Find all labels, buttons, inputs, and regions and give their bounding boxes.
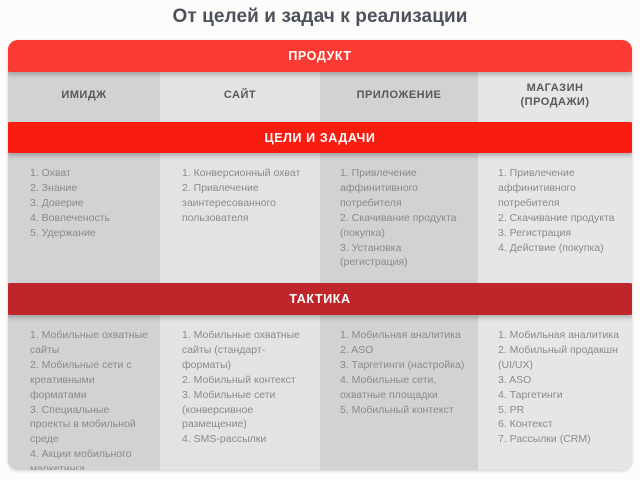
list-item: 4. Таргетинги xyxy=(498,388,622,403)
list-item: 4. Действие (покупка) xyxy=(498,241,622,256)
strategy-board: ПРОДУКТ ИМИДЖ САЙТ ПРИЛОЖЕНИЕ МАГАЗИН (П… xyxy=(8,40,632,470)
list-item: 4. Акции мобильного маркетинга xyxy=(30,447,150,470)
section-bar-product: ПРОДУКТ xyxy=(8,40,632,72)
list-item: 3. Регистрация xyxy=(498,226,622,241)
list-item: 2. Скачивание продукта xyxy=(498,211,622,226)
list-item: 3. Таргетинги (настройка) xyxy=(340,358,468,373)
list-item: 3. Доверие xyxy=(30,196,150,211)
section-bar-tactics: ТАКТИКА xyxy=(8,283,632,315)
section-bar-product-label: ПРОДУКТ xyxy=(288,49,351,63)
section-bar-goals: ЦЕЛИ И ЗАДАЧИ xyxy=(8,122,632,153)
column-header-prilozhenie: ПРИЛОЖЕНИЕ xyxy=(320,72,478,120)
column-header-sait: САЙТ xyxy=(160,72,320,120)
list-item: 3. Специальные проекты в мобильной среде xyxy=(30,403,150,448)
tactics-row: 1. Мобильные охватные сайты2. Мобильные … xyxy=(8,318,632,470)
page-title: От целей и задач к реализации xyxy=(0,6,640,28)
goals-row: 1. Охват2. Знание3. Доверие4. Вовлеченос… xyxy=(8,156,632,281)
list-item: 2. Знание xyxy=(30,181,150,196)
list-item: 1. Привлечение аффинитивного потребителя xyxy=(498,166,622,211)
list-item: 5. Удержание xyxy=(30,226,150,241)
goals-cell-magazin: 1. Привлечение аффинитивного потребителя… xyxy=(478,156,632,281)
list-item: 5. PR xyxy=(498,403,622,418)
list-item: 1. Конверсионный охват xyxy=(182,166,310,181)
list-item: 4. Вовлеченость xyxy=(30,211,150,226)
list-item: 1. Мобильная аналитика xyxy=(340,328,468,343)
list-item: 1. Мобильные охватные сайты (стандарт-фо… xyxy=(182,328,310,373)
list-item: 3. Мобильные сети (конверсивное размещен… xyxy=(182,388,310,433)
list-item: 2. Привлечение заинтересованного пользов… xyxy=(182,181,310,226)
list-item: 1. Охват xyxy=(30,166,150,181)
tactics-cell-magazin: 1. Мобильная аналитика2. Мобильный прода… xyxy=(478,318,632,470)
tactics-cell-prilozhenie: 1. Мобильная аналитика2. ASO3. Таргетинг… xyxy=(320,318,478,470)
list-item: 6. Контекст xyxy=(498,417,622,432)
column-header-magazin: МАГАЗИН (ПРОДАЖИ) xyxy=(478,72,632,120)
list-item: 3. Установка (регистрация) xyxy=(340,241,468,271)
list-item: 2. Мобильный контекст xyxy=(182,373,310,388)
list-item: 1. Привлечение аффинитивного потребителя xyxy=(340,166,468,211)
tactics-cell-sait: 1. Мобильные охватные сайты (стандарт-фо… xyxy=(160,318,320,470)
tactics-cell-imidzh: 1. Мобильные охватные сайты2. Мобильные … xyxy=(8,318,160,470)
list-item: 3. ASO xyxy=(498,373,622,388)
list-item: 2. ASO xyxy=(340,343,468,358)
column-header-row: ИМИДЖ САЙТ ПРИЛОЖЕНИЕ МАГАЗИН (ПРОДАЖИ) xyxy=(8,72,632,120)
list-item: 2. Мобильные сети с креативными форматам… xyxy=(30,358,150,403)
list-item: 2. Скачивание продукта (покупка) xyxy=(340,211,468,241)
list-item: 1. Мобильные охватные сайты xyxy=(30,328,150,358)
list-item: 1. Мобильная аналитика xyxy=(498,328,622,343)
list-item: 5. Мобильный контекст xyxy=(340,403,468,418)
list-item: 7. Рассылки (CRM) xyxy=(498,432,622,447)
goals-cell-imidzh: 1. Охват2. Знание3. Доверие4. Вовлеченос… xyxy=(8,156,160,281)
list-item: 2. Мобильный продакшн (UI/UX) xyxy=(498,343,622,373)
list-item: 4. SMS-рассылки xyxy=(182,432,310,447)
section-bar-tactics-label: ТАКТИКА xyxy=(289,292,350,306)
column-header-imidzh: ИМИДЖ xyxy=(8,72,160,120)
list-item: 4. Мобильные сети, охватные площадки xyxy=(340,373,468,403)
goals-cell-prilozhenie: 1. Привлечение аффинитивного потребителя… xyxy=(320,156,478,281)
section-bar-goals-label: ЦЕЛИ И ЗАДАЧИ xyxy=(264,131,375,145)
goals-cell-sait: 1. Конверсионный охват2. Привлечение заи… xyxy=(160,156,320,281)
